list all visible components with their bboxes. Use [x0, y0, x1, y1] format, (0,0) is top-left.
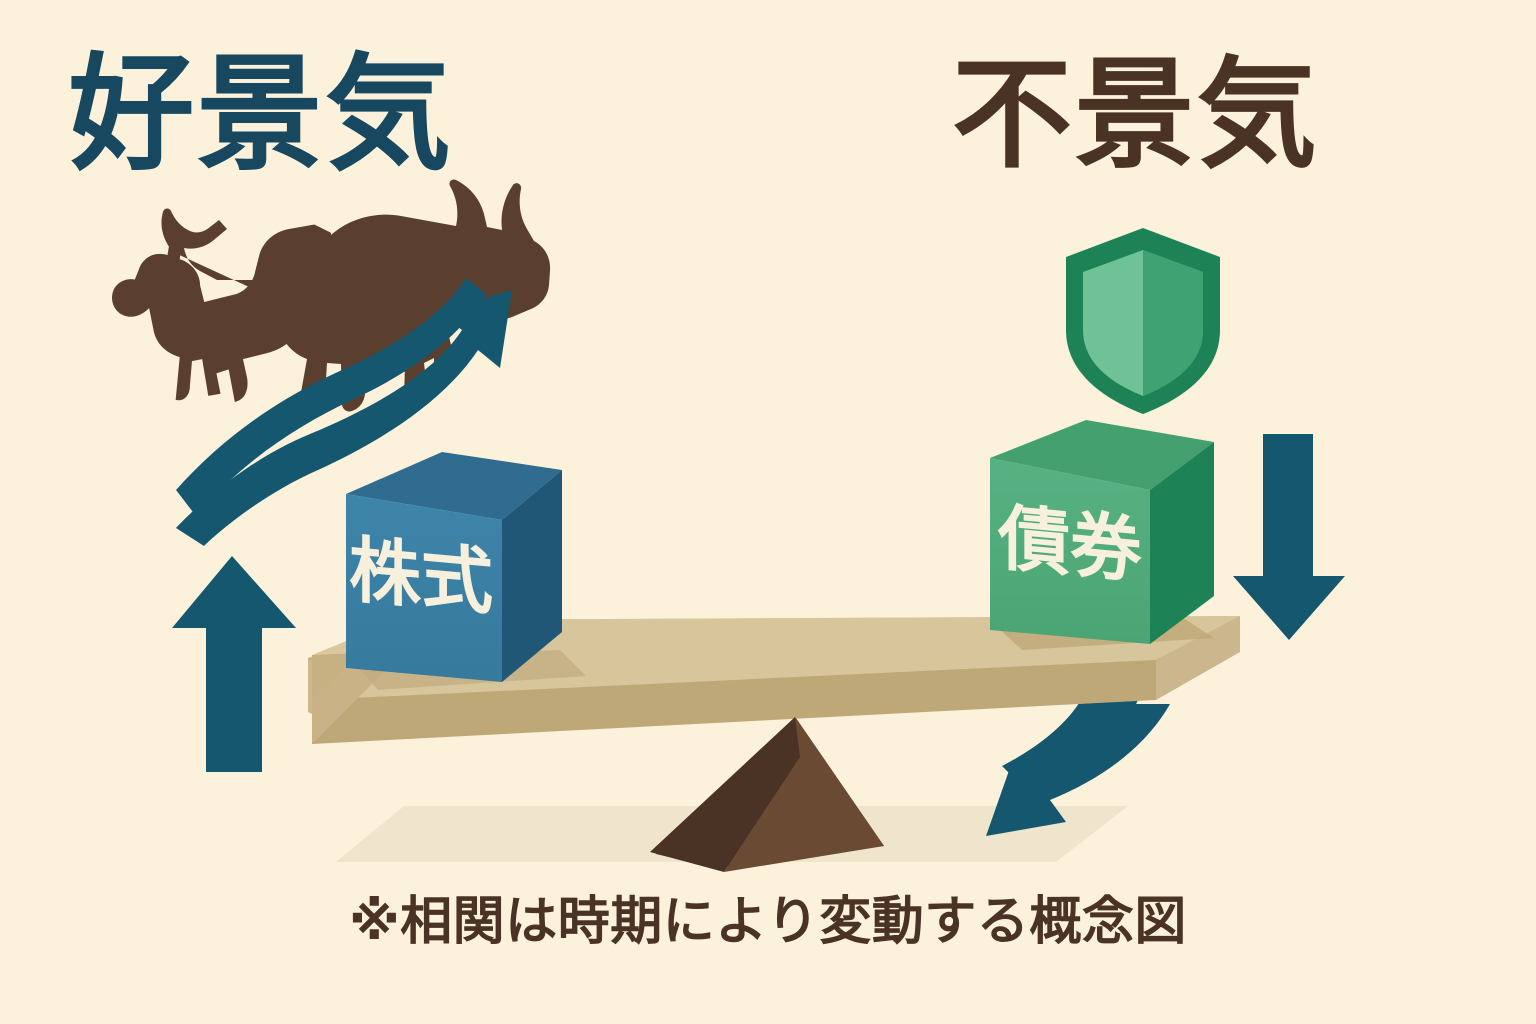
- fulcrum-pyramid: [650, 717, 884, 872]
- down-arrow: [1233, 434, 1345, 640]
- footnote-caption: ※相関は時期により変動する概念図: [0, 896, 1536, 948]
- infographic-canvas: 好景気 不景気 株式 債券 ※相関は時期により変動する概念図: [0, 0, 1536, 1024]
- heading-recession: 不景気: [952, 56, 1319, 176]
- up-arrow: [172, 556, 296, 772]
- stocks-cube-label: 株式: [349, 533, 493, 618]
- shield-icon: [1066, 228, 1220, 414]
- heading-boom: 好景気: [68, 52, 454, 178]
- bonds-cube-label: 債券: [998, 501, 1142, 586]
